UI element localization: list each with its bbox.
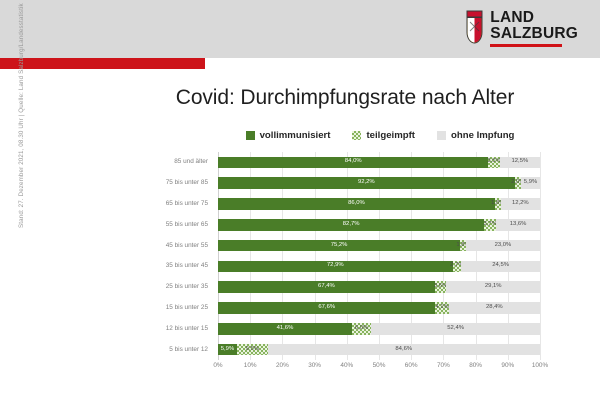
bar-row[interactable]: 72,9%2,7%24,5% <box>218 261 540 273</box>
bar-segment-ohne impfung[interactable]: 52,4% <box>371 323 540 335</box>
header-band: LAND SALZBURG <box>0 0 600 58</box>
y-axis-label: 45 bis unter 55 <box>166 242 208 249</box>
bar-segment-ohne impfung[interactable]: 24,5% <box>461 261 540 273</box>
y-axis-label: 55 bis unter 65 <box>166 221 208 228</box>
bar-segment-label: 82,7% <box>343 222 360 228</box>
bar-row[interactable]: 67,6%4,1%28,4% <box>218 302 540 314</box>
logo-underline <box>490 44 562 47</box>
bar-segment-label: 29,1% <box>485 284 502 290</box>
x-axis-tick-label: 30% <box>308 362 321 369</box>
bar-segment-teilgeimpft[interactable]: 3,7% <box>484 219 496 231</box>
bar-row[interactable]: 41,6%6,0%52,4% <box>218 323 540 335</box>
bar-segment-label: 67,6% <box>318 305 335 311</box>
bar-segment-teilgeimpft[interactable]: 6,0% <box>352 323 371 335</box>
bar-row[interactable]: 82,7%3,7%13,6% <box>218 219 540 231</box>
bar-row[interactable]: 84,0%3,5%12,5% <box>218 157 540 169</box>
land-salzburg-logo: LAND SALZBURG <box>466 10 578 47</box>
bar-segment-label: 24,5% <box>492 263 509 269</box>
legend-label: teilgeimpft <box>366 130 415 141</box>
bar-segment-label: 92,2% <box>358 180 375 186</box>
bar-segment-vollimmunisiert[interactable]: 75,2% <box>218 240 460 252</box>
logo-line-salzburg: SALZBURG <box>490 26 578 42</box>
x-axis-tick-label: 70% <box>437 362 450 369</box>
bar-segment-ohne impfung[interactable]: 12,5% <box>500 157 540 169</box>
legend-item-ohne impfung[interactable]: ohne Impfung <box>437 130 514 141</box>
bar-segment-ohne impfung[interactable]: 12,2% <box>501 198 540 210</box>
red-accent-bar <box>0 58 205 69</box>
page-title: Covid: Durchimpfungsrate nach Alter <box>110 86 580 110</box>
bar-segment-label: 12,2% <box>512 201 529 207</box>
y-axis-label: 12 bis unter 15 <box>166 325 208 332</box>
bar-segment-vollimmunisiert[interactable]: 82,7% <box>218 219 484 231</box>
x-axis-tick-label: 0% <box>213 362 222 369</box>
salzburg-coat-of-arms-icon <box>466 10 483 44</box>
y-axis-label: 35 bis unter 45 <box>166 262 208 269</box>
bar-segment-vollimmunisiert[interactable]: 67,4% <box>218 281 435 293</box>
x-axis-tick-label: 90% <box>501 362 514 369</box>
legend-label: ohne Impfung <box>451 130 514 141</box>
y-axis-category-labels: 85 und älter75 bis unter 8565 bis unter … <box>0 152 214 360</box>
x-axis-tick-label: 10% <box>244 362 257 369</box>
y-axis-label: 25 bis unter 35 <box>166 283 208 290</box>
bar-segment-vollimmunisiert[interactable]: 72,9% <box>218 261 453 273</box>
x-axis-tick-label: 60% <box>405 362 418 369</box>
bar-segment-vollimmunisiert[interactable]: 41,6% <box>218 323 352 335</box>
x-axis-tick-label: 50% <box>373 362 386 369</box>
chart-legend: vollimmunisiertteilgeimpftohne Impfung <box>210 130 550 141</box>
y-axis-label: 5 bis unter 12 <box>169 346 208 353</box>
bar-segment-ohne impfung[interactable]: 13,6% <box>496 219 540 231</box>
bar-segment-teilgeimpft[interactable]: 3,6% <box>435 281 447 293</box>
y-axis-label: 85 und älter <box>174 158 208 165</box>
bar-segment-teilgeimpft[interactable]: 2,7% <box>453 261 462 273</box>
bar-segment-label: 84,0% <box>345 159 362 165</box>
legend-label: vollimmunisiert <box>260 130 331 141</box>
bar-segment-label: 12,5% <box>512 159 529 165</box>
legend-swatch-icon <box>352 131 361 140</box>
y-axis-label: 65 bis unter 75 <box>166 200 208 207</box>
y-axis-label: 15 bis unter 25 <box>166 304 208 311</box>
bar-row[interactable]: 92,2%2,0%5,9% <box>218 177 540 189</box>
bar-segment-label: 13,6% <box>510 222 527 228</box>
bar-segment-label: 86,0% <box>348 201 365 207</box>
bar-segment-ohne impfung[interactable]: 5,9% <box>521 177 540 189</box>
x-axis-tick-label: 80% <box>469 362 482 369</box>
logo-line-land: LAND <box>490 10 534 26</box>
x-axis-tick-labels: 0%10%20%30%40%50%60%70%80%90%100% <box>218 362 540 376</box>
y-axis-label: 75 bis unter 85 <box>166 179 208 186</box>
legend-item-vollimmunisiert[interactable]: vollimmunisiert <box>246 130 331 141</box>
bar-segment-ohne impfung[interactable]: 29,1% <box>446 281 540 293</box>
bar-row[interactable]: 5,9%9,5%84,6% <box>218 344 540 356</box>
bar-segment-label: 28,4% <box>486 305 503 311</box>
bar-segment-label: 6,0% <box>355 326 368 332</box>
bar-segment-vollimmunisiert[interactable]: 5,9% <box>218 344 237 356</box>
bar-segment-teilgeimpft[interactable]: 9,5% <box>237 344 268 356</box>
bar-segment-label: 3,6% <box>434 284 447 290</box>
bar-segment-label: 67,4% <box>318 284 335 290</box>
legend-item-teilgeimpft[interactable]: teilgeimpft <box>352 130 415 141</box>
x-axis-tick-label: 20% <box>276 362 289 369</box>
legend-swatch-icon <box>246 131 255 140</box>
bar-segment-teilgeimpft[interactable]: 4,1% <box>435 302 448 314</box>
bar-segment-label: 41,6% <box>277 326 294 332</box>
bar-row[interactable]: 75,2%1,8%23,0% <box>218 240 540 252</box>
bar-segment-ohne impfung[interactable]: 28,4% <box>449 302 540 314</box>
bar-segment-label: 72,9% <box>327 263 344 269</box>
bar-segment-ohne impfung[interactable]: 23,0% <box>466 240 540 252</box>
bar-segment-label: 23,0% <box>495 243 512 249</box>
x-axis-tick-label: 100% <box>532 362 548 369</box>
bar-segment-vollimmunisiert[interactable]: 84,0% <box>218 157 488 169</box>
bar-segment-label: 5,9% <box>524 180 537 186</box>
bar-segment-label: 3,7% <box>484 222 497 228</box>
bar-segment-vollimmunisiert[interactable]: 67,6% <box>218 302 435 314</box>
bar-row[interactable]: 86,0%1,8%12,2% <box>218 198 540 210</box>
bar-segment-label: 9,5% <box>246 347 259 353</box>
chart-plot-area: 84,0%3,5%12,5%92,2%2,0%5,9%86,0%1,8%12,2… <box>218 152 540 360</box>
screenshot-root: LAND SALZBURG Stand: 27. Dezember 2021, … <box>0 0 600 400</box>
bar-segment-label: 84,6% <box>395 347 412 353</box>
bar-segment-label: 4,1% <box>435 305 448 311</box>
bar-segment-label: 75,2% <box>331 243 348 249</box>
x-axis-tick-label: 40% <box>340 362 353 369</box>
bar-segment-label: 52,4% <box>447 326 464 332</box>
bar-segment-teilgeimpft[interactable]: 3,5% <box>488 157 499 169</box>
legend-swatch-icon <box>437 131 446 140</box>
bar-segment-ohne impfung[interactable]: 84,6% <box>268 344 540 356</box>
gridline <box>540 152 541 360</box>
bar-segment-vollimmunisiert[interactable]: 86,0% <box>218 198 495 210</box>
bar-rows: 84,0%3,5%12,5%92,2%2,0%5,9%86,0%1,8%12,2… <box>218 152 540 360</box>
bar-segment-label: 5,9% <box>221 347 234 353</box>
bar-segment-vollimmunisiert[interactable]: 92,2% <box>218 177 515 189</box>
bar-row[interactable]: 67,4%3,6%29,1% <box>218 281 540 293</box>
